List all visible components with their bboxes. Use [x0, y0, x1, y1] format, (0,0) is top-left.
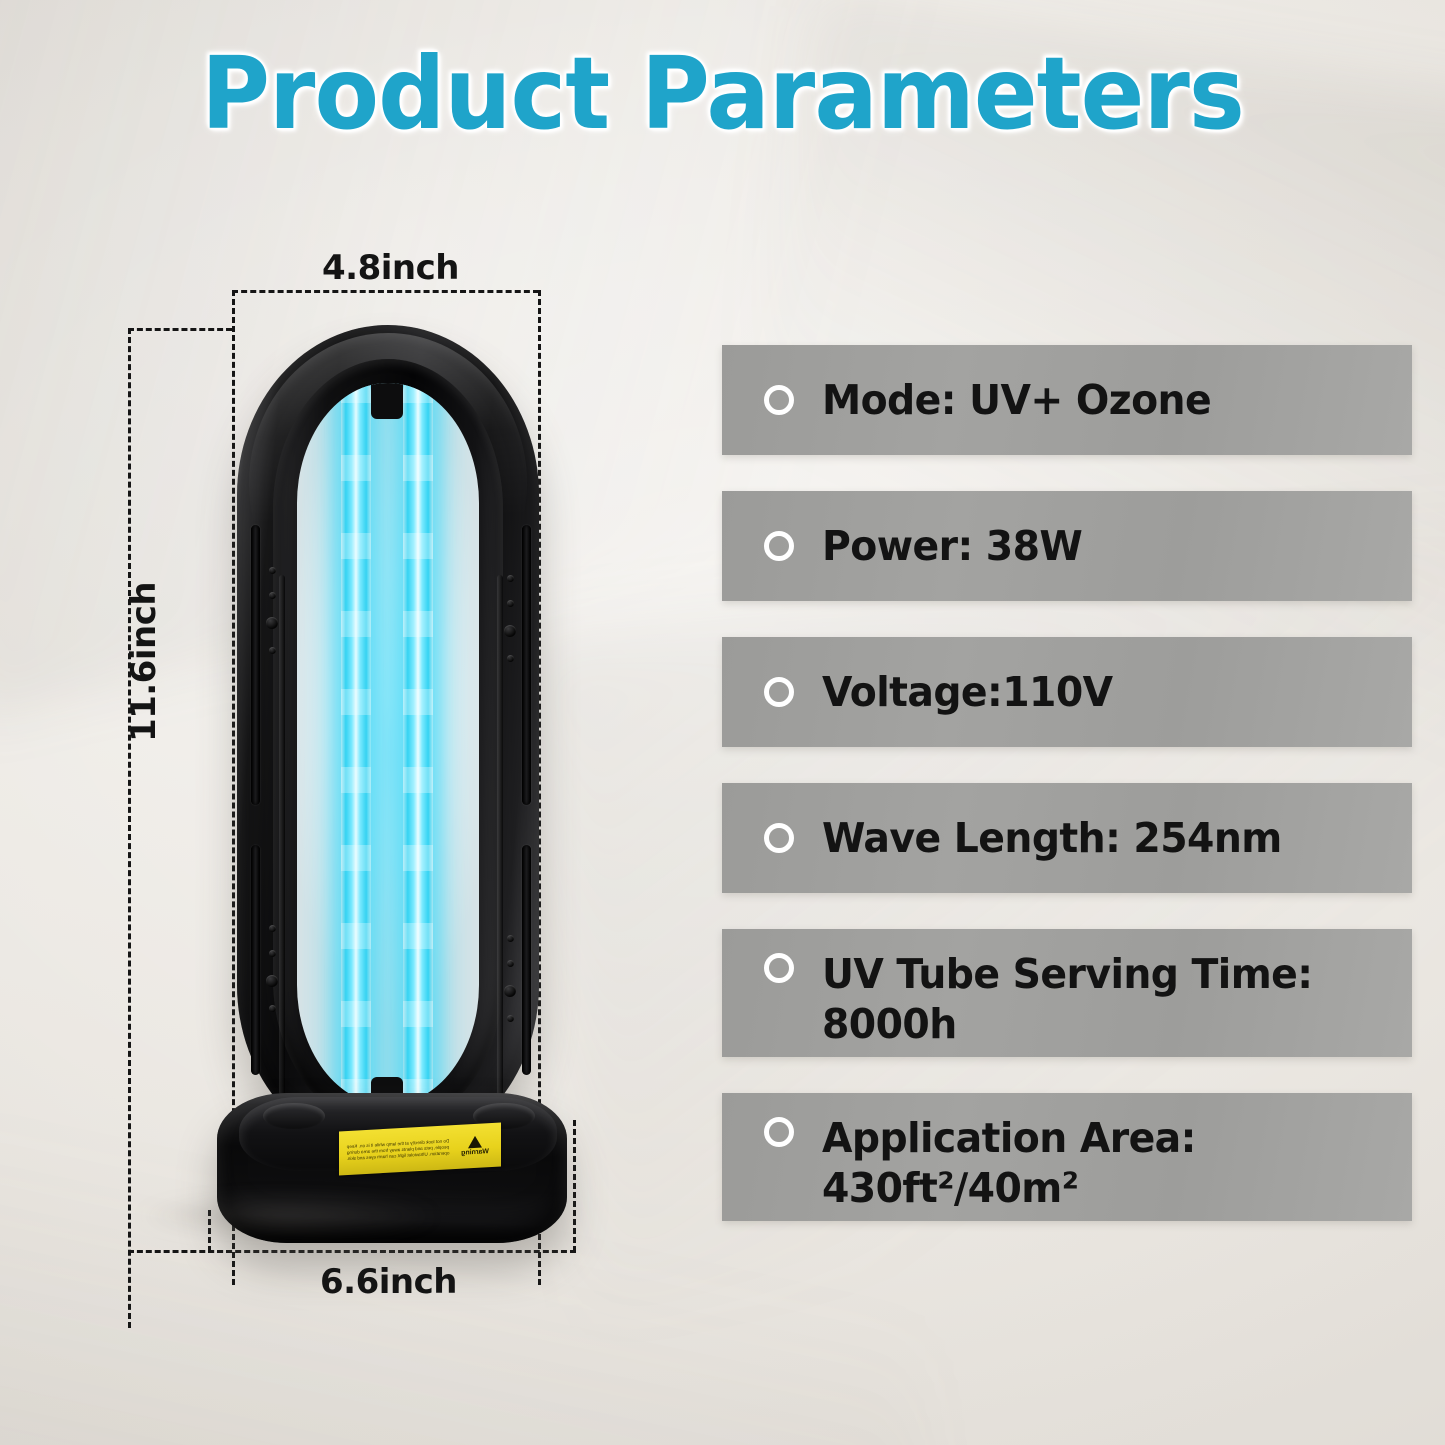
molded-dot	[269, 567, 276, 574]
molded-dots-right-lower	[503, 935, 517, 1040]
vent-slot-right-lower	[522, 845, 531, 1075]
uv-lamp-photo: Do not look directly at the lamp while i…	[225, 325, 555, 1265]
parameter-row-serving-time: UV Tube Serving Time: 8000h	[722, 929, 1412, 1057]
warning-sticker-label-text: Warning	[461, 1148, 489, 1157]
molded-dot	[269, 592, 276, 599]
circle-bullet-icon	[764, 1117, 794, 1147]
circle-bullet-icon	[764, 823, 794, 853]
parameter-row-power: Power: 38W	[722, 491, 1412, 601]
molded-dot	[507, 600, 514, 607]
molded-dots-left-upper	[265, 567, 279, 672]
parameter-row-application-area: Application Area: 430ft²/40m²	[722, 1093, 1412, 1221]
uv-tube-top-cap	[371, 383, 403, 419]
parameter-text-mode: Mode: UV+ Ozone	[822, 375, 1211, 425]
molded-dot	[266, 617, 278, 629]
molded-dot	[507, 960, 514, 967]
parameter-text-application-area: Application Area: 430ft²/40m²	[822, 1101, 1196, 1213]
dimension-guide-height-top	[128, 328, 232, 331]
molded-dot	[269, 925, 276, 932]
molded-dot	[504, 985, 516, 997]
molded-dot	[507, 575, 514, 582]
molded-dot	[504, 625, 516, 637]
parameter-text-power: Power: 38W	[822, 521, 1082, 571]
product-parameters-infographic: Product Parameters	[0, 0, 1445, 1445]
warning-sticker-label: Warning	[453, 1134, 497, 1157]
vent-slot-left-lower	[251, 845, 260, 1075]
dimension-label-depth: 6.6inch	[320, 1262, 457, 1302]
body-groove-left	[279, 575, 285, 1095]
warning-triangle-icon	[468, 1135, 482, 1148]
parameter-row-wavelength: Wave Length: 254nm	[722, 783, 1412, 893]
molded-dot	[507, 1015, 514, 1022]
dimension-guide-height-left	[128, 328, 131, 1328]
uv-glow	[315, 383, 463, 1105]
uv-tube-right-bands	[403, 383, 433, 1105]
molded-dot	[269, 1005, 276, 1012]
molded-dots-right-upper	[503, 575, 517, 680]
uv-tube-left-bands	[341, 383, 371, 1105]
dimension-label-height: 11.6inch	[124, 582, 164, 742]
product-floor-shadow	[78, 1188, 498, 1244]
parameters-list: Mode: UV+ Ozone Power: 38W Voltage:110V …	[722, 345, 1412, 1221]
warning-sticker-body: Do not look directly at the lamp while i…	[343, 1138, 453, 1162]
molded-dot	[266, 975, 278, 987]
uv-tube-right	[403, 383, 433, 1105]
product-image-group: Do not look directly at the lamp while i…	[120, 250, 620, 1330]
molded-dot	[507, 655, 514, 662]
circle-bullet-icon	[764, 677, 794, 707]
parameter-text-wavelength: Wave Length: 254nm	[822, 813, 1282, 863]
parameter-row-voltage: Voltage:110V	[722, 637, 1412, 747]
base-bump-left	[263, 1103, 325, 1129]
vent-slot-left-upper	[251, 525, 260, 805]
warning-sticker: Do not look directly at the lamp while i…	[339, 1122, 501, 1175]
page-title: Product Parameters	[43, 44, 1401, 144]
circle-bullet-icon	[764, 385, 794, 415]
circle-bullet-icon	[764, 531, 794, 561]
molded-dot	[507, 935, 514, 942]
molded-dot	[269, 950, 276, 957]
parameter-text-voltage: Voltage:110V	[822, 667, 1113, 717]
circle-bullet-icon	[764, 953, 794, 983]
parameter-text-serving-time: UV Tube Serving Time: 8000h	[822, 937, 1312, 1049]
molded-dot	[269, 647, 276, 654]
dimension-guide-width-top	[232, 290, 539, 293]
dimension-guide-depth-right	[573, 1120, 576, 1252]
uv-tube-left	[341, 383, 371, 1105]
dimension-label-width: 4.8inch	[322, 248, 459, 288]
lamp-cavity	[297, 383, 479, 1105]
molded-dots-left-lower	[265, 925, 279, 1030]
parameter-row-mode: Mode: UV+ Ozone	[722, 345, 1412, 455]
vent-slot-right-upper	[522, 525, 531, 805]
